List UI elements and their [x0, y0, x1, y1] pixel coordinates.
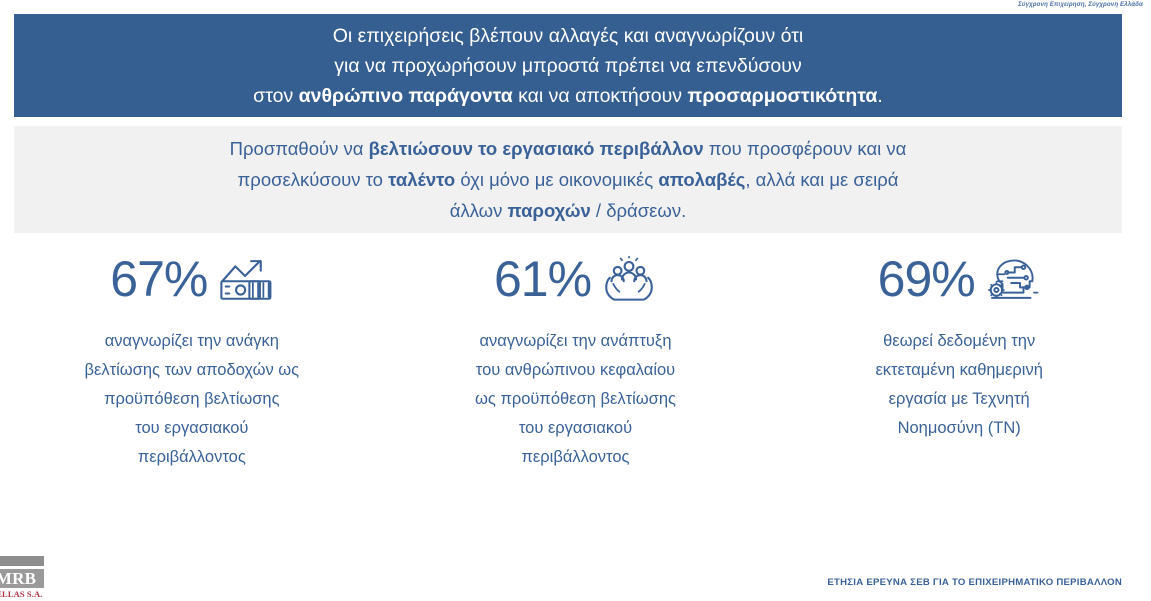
text-line: για να προχωρήσουν μπροστά πρέπει να επε…	[253, 51, 883, 81]
stat-block: 67% αναγνωρίζει την ανάγκη βελτίωσης των…	[0, 248, 384, 472]
plain-text: για να προχωρήσουν μπροστά πρέπει να επε…	[334, 55, 801, 77]
money-growth-icon	[217, 255, 273, 303]
emphasis-text: απολαβές	[658, 169, 745, 190]
corner-slogan: Σύγχρονη Επιχείρηση, Σύγχρονη Ελλάδα	[1018, 0, 1143, 9]
stat-percentage: 69%	[878, 250, 975, 308]
stats-row: 67% αναγνωρίζει την ανάγκη βελτίωσης των…	[0, 248, 1151, 472]
slide-root: { "corner_slogan": "Σύγχρονη Επιχείρηση,…	[0, 0, 1151, 601]
emphasis-text: βελτιώσουν το εργασιακό περιβάλλον	[369, 138, 704, 159]
ai-head-gear-icon	[985, 255, 1041, 303]
mrb-logo-text: MRB	[0, 569, 36, 589]
text-line: στον ανθρώπινο παράγοντα και να αποκτήσο…	[253, 81, 883, 111]
plain-text: Οι επιχειρήσεις βλέπουν αλλαγές και αναγ…	[333, 25, 804, 47]
emphasis-text: ταλέντο	[388, 169, 455, 190]
plain-text: στον	[253, 85, 298, 107]
plain-text: Προσπαθούν να	[230, 138, 369, 159]
mrb-logo-box: MRB	[0, 569, 44, 588]
text-line: προσελκύσουν το ταλέντο όχι μόνο με οικο…	[230, 164, 907, 195]
plain-text: προσελκύσουν το	[238, 169, 389, 190]
emphasis-text: προσαρμοστικότητα	[687, 85, 877, 107]
plain-text: άλλων	[450, 200, 508, 221]
text-line: Προσπαθούν να βελτιώσουν το εργασιακό πε…	[230, 133, 907, 164]
plain-text: όχι μόνο με οικονομικές	[455, 169, 658, 190]
emphasis-text: ανθρώπινο παράγοντα	[299, 85, 513, 107]
plain-text: και να αποκτήσουν	[513, 85, 688, 107]
stat-header: 67%	[110, 248, 273, 310]
stat-caption: αναγνωρίζει την ανάγκη βελτίωσης των απο…	[85, 327, 300, 472]
mrb-logo-bar	[0, 556, 44, 566]
stat-percentage: 61%	[494, 250, 591, 308]
headline-band: Οι επιχειρήσεις βλέπουν αλλαγές και αναγ…	[14, 14, 1122, 117]
plain-text: , αλλά και με σειρά	[745, 169, 898, 190]
plain-text: .	[877, 85, 882, 107]
text-line: άλλων παροχών / δράσεων.	[230, 195, 907, 226]
hands-holding-people-icon	[601, 255, 657, 303]
plain-text: / δράσεων.	[591, 200, 686, 221]
stat-block: 69% θεωρεί δεδομένη την εκτεταμένη καθημ…	[767, 248, 1151, 472]
mrb-logo: MRB HELLAS S.A.	[0, 556, 44, 599]
emphasis-text: παροχών	[508, 200, 591, 221]
sub-band: Προσπαθούν να βελτιώσουν το εργασιακό πε…	[14, 126, 1122, 233]
plain-text: που προσφέρουν και να	[704, 138, 907, 159]
stat-caption: θεωρεί δεδομένη την εκτεταμένη καθημεριν…	[875, 327, 1042, 443]
footer-note: ΕΤΗΣΙΑ ΕΡΕΥΝΑ ΣΕΒ ΓΙΑ ΤΟ ΕΠΙΧΕΙΡΗΜΑΤΙΚΟ …	[827, 577, 1122, 588]
mrb-logo-subtitle: HELLAS S.A.	[0, 589, 44, 599]
stat-percentage: 67%	[110, 250, 207, 308]
stat-caption: αναγνωρίζει την ανάπτυξη του ανθρώπινου …	[475, 327, 676, 472]
stat-header: 61%	[494, 248, 657, 310]
sub-band-lines: Προσπαθούν να βελτιώσουν το εργασιακό πε…	[230, 133, 907, 226]
stat-block: 61% αναγνωρίζει την ανάπτυξη του ανθρώπι…	[384, 248, 768, 472]
headline-lines: Οι επιχειρήσεις βλέπουν αλλαγές και αναγ…	[253, 21, 883, 111]
stat-header: 69%	[878, 248, 1041, 310]
text-line: Οι επιχειρήσεις βλέπουν αλλαγές και αναγ…	[253, 21, 883, 51]
